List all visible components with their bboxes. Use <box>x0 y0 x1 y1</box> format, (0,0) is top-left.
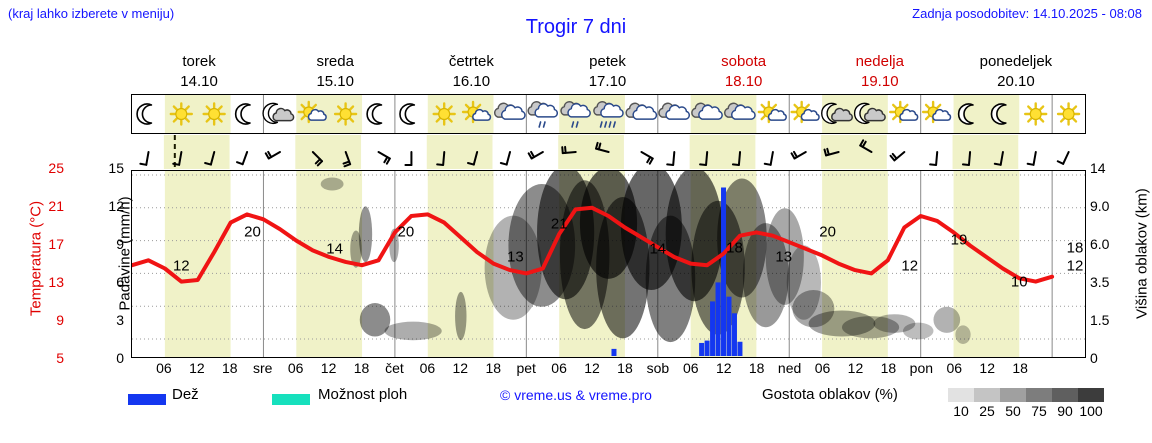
weather-icon-sun <box>1058 104 1079 125</box>
showers-legend-label: Možnost ploh <box>318 386 407 403</box>
cloud-density-swatch <box>1078 388 1104 402</box>
x-axis-label: 06 <box>815 360 831 376</box>
temperature-value-label: 12 <box>901 257 918 274</box>
cloud-density-legend-label: Gostota oblakov (%) <box>762 386 898 403</box>
x-axis-label: 12 <box>189 360 205 376</box>
x-axis-label: 18 <box>617 360 633 376</box>
cloud-height-tick: 9.0 <box>1090 198 1130 214</box>
weather-icon-moon <box>367 104 381 124</box>
temperature-value-label: 20 <box>398 224 415 241</box>
wind-barb-strip <box>131 135 1086 169</box>
weather-icon-cloud-rain <box>528 102 557 127</box>
x-axis-label: 18 <box>1012 360 1028 376</box>
temperature-axis-ticks: 2521171395 <box>30 160 64 370</box>
weather-icon-sun <box>204 104 225 125</box>
wind-barb <box>792 152 806 159</box>
weather-icon-cloud <box>626 103 656 119</box>
wind-barb <box>667 152 674 165</box>
cloud-density-tick: 75 <box>1031 403 1047 419</box>
x-axis-label: čet <box>385 360 404 376</box>
x-axis-label: 18 <box>749 360 765 376</box>
temperature-value-label: 18 <box>726 240 743 257</box>
wind-barb <box>1058 152 1069 164</box>
temperature-tick: 5 <box>30 350 64 366</box>
day-name: sreda <box>267 52 403 72</box>
weather-icon-sun <box>171 104 192 125</box>
weather-icon-strip <box>131 94 1086 134</box>
weather-icon-moon <box>236 104 250 124</box>
day-date: 15.10 <box>267 72 403 92</box>
temperature-value-label: 14 <box>326 241 343 258</box>
day-header-ponedeljek: ponedeljek20.10 <box>948 52 1084 92</box>
temperature-value-label: 14 <box>649 241 666 258</box>
cloud-height-tick: 0 <box>1090 350 1130 366</box>
day-header-sobota: sobota18.10 <box>676 52 812 92</box>
last-updated-label: Zadnja posodobitev: 14.10.2025 - 08:08 <box>912 6 1142 21</box>
cloud-density-tick: 25 <box>979 403 995 419</box>
cloud-density-tick: 50 <box>1005 403 1021 419</box>
wind-barb <box>266 152 280 159</box>
day-date: 20.10 <box>948 72 1084 92</box>
day-name: ponedeljek <box>948 52 1084 72</box>
temperature-tick: 13 <box>30 274 64 290</box>
x-axis-label: 06 <box>156 360 172 376</box>
day-header-row: torek14.10sreda15.10četrtek16.10petek17.… <box>131 52 1086 94</box>
weather-icon-moon-cloud <box>263 103 294 123</box>
temperature-value-label: 12 <box>173 257 190 274</box>
day-header-petek: petek17.10 <box>539 52 675 92</box>
temperature-value-label: 12 <box>1067 257 1084 274</box>
x-axis-label: pet <box>516 360 535 376</box>
cloud-density-tick: 10 <box>953 403 969 419</box>
x-axis-label: 12 <box>716 360 732 376</box>
day-header-sreda: sreda15.10 <box>267 52 403 92</box>
x-axis-label: pon <box>910 360 933 376</box>
precipitation-tick: 0 <box>96 350 124 366</box>
x-axis-label: 12 <box>584 360 600 376</box>
x-axis-label: 12 <box>453 360 469 376</box>
weather-icon-sun <box>335 104 356 125</box>
x-axis-label: 12 <box>979 360 995 376</box>
x-axis-label: 18 <box>354 360 370 376</box>
day-date: 18.10 <box>676 72 812 92</box>
weather-icon-sun-cloud <box>759 102 786 122</box>
weather-icon-sun-cloud <box>890 102 917 122</box>
weather-icon-sun <box>1025 104 1046 125</box>
wind-barb <box>529 152 543 159</box>
cloud-density-swatch <box>1000 388 1026 402</box>
temperature-tick: 17 <box>30 236 64 252</box>
day-header-nedelja: nedelja19.10 <box>812 52 948 92</box>
temperature-value-label: 21 <box>551 215 568 232</box>
precipitation-tick: 15 <box>96 160 124 176</box>
wind-barb <box>891 152 905 160</box>
cloud-density-swatch <box>948 388 974 402</box>
day-header-torek: torek14.10 <box>131 52 267 92</box>
weather-icon-moon <box>400 104 414 124</box>
temperature-value-label: 10 <box>1011 274 1028 291</box>
day-name: petek <box>539 52 675 72</box>
weather-icon-cloud <box>659 103 689 119</box>
temperature-value-label: 20 <box>244 224 261 241</box>
cloud-density-tick: 100 <box>1079 403 1102 419</box>
wind-barb <box>765 152 773 165</box>
weather-icon-sun-cloud <box>792 102 819 122</box>
day-name: nedelja <box>812 52 948 72</box>
x-axis-label: 06 <box>946 360 962 376</box>
day-name: torek <box>131 52 267 72</box>
precipitation-tick: 9 <box>96 236 124 252</box>
day-header-četrtek: četrtek16.10 <box>403 52 539 92</box>
temperature-value-label: 18 <box>1067 240 1084 257</box>
x-axis-hour-labels: 061218sre061218čet061218pet061218sob0612… <box>131 360 1086 380</box>
x-axis-label: 06 <box>683 360 699 376</box>
x-axis-label: 12 <box>321 360 337 376</box>
wind-barb <box>140 152 148 165</box>
weather-icon-sun <box>434 104 455 125</box>
weather-icon-sun-cloud <box>923 102 950 122</box>
cloud-density-tick: 90 <box>1057 403 1073 419</box>
chart-legend: Dež Možnost ploh © vreme.us & vreme.pro … <box>0 386 1152 431</box>
precipitation-tick: 12 <box>96 198 124 214</box>
precipitation-tick: 3 <box>96 312 124 328</box>
precipitation-axis-ticks: 15129630 <box>96 160 124 370</box>
x-axis-label: 06 <box>420 360 436 376</box>
x-axis-label: 18 <box>222 360 238 376</box>
rain-legend-swatch <box>128 394 166 405</box>
weather-icon-moon <box>137 104 151 124</box>
wind-barb <box>379 152 390 164</box>
showers-legend-swatch <box>272 394 310 405</box>
day-date: 19.10 <box>812 72 948 92</box>
temperature-tick: 25 <box>30 160 64 176</box>
x-axis-label: ned <box>778 360 801 376</box>
day-name: četrtek <box>403 52 539 72</box>
x-axis-label: 12 <box>848 360 864 376</box>
cloud-height-tick: 6.0 <box>1090 236 1130 252</box>
temperature-value-label: 19 <box>951 232 968 249</box>
temperature-tick: 9 <box>30 312 64 328</box>
x-axis-label: 06 <box>551 360 567 376</box>
wind-barb <box>1028 152 1036 165</box>
day-date: 17.10 <box>539 72 675 92</box>
day-date: 14.10 <box>131 72 267 92</box>
wind-barb <box>641 152 652 164</box>
cloud-height-axis-ticks: 149.06.03.51.50 <box>1090 160 1130 375</box>
cloud-density-swatch <box>974 388 1000 402</box>
temperature-value-label: 13 <box>775 249 792 266</box>
cloud-density-swatch <box>1052 388 1078 402</box>
day-name: sobota <box>676 52 812 72</box>
weather-chart-plot: 122014201321141813201219101812 <box>131 170 1086 358</box>
cloud-height-tick: 14 <box>1090 160 1130 176</box>
wind-barb <box>930 152 937 165</box>
wind-barb <box>405 152 411 165</box>
wind-barb <box>501 152 510 165</box>
rain-legend-label: Dež <box>172 386 199 403</box>
precipitation-tick: 6 <box>96 274 124 290</box>
day-date: 16.10 <box>403 72 539 92</box>
cloud-height-axis-title: Višina oblakov (km) <box>1134 164 1151 344</box>
x-axis-label: sre <box>253 360 272 376</box>
cloud-height-tick: 3.5 <box>1090 274 1130 290</box>
x-axis-label: 06 <box>288 360 304 376</box>
cloud-height-tick: 1.5 <box>1090 312 1130 328</box>
temperature-tick: 21 <box>30 198 64 214</box>
temperature-value-label: 20 <box>819 224 836 241</box>
wind-barb <box>237 152 247 164</box>
x-axis-label: 18 <box>881 360 897 376</box>
copyright-link[interactable]: © vreme.us & vreme.pro <box>500 387 652 403</box>
x-axis-label: sob <box>647 360 670 376</box>
temperature-value-label: 13 <box>507 249 524 266</box>
cloud-density-swatch <box>1026 388 1052 402</box>
weather-icon-cloud <box>495 103 525 119</box>
x-axis-label: 18 <box>485 360 501 376</box>
